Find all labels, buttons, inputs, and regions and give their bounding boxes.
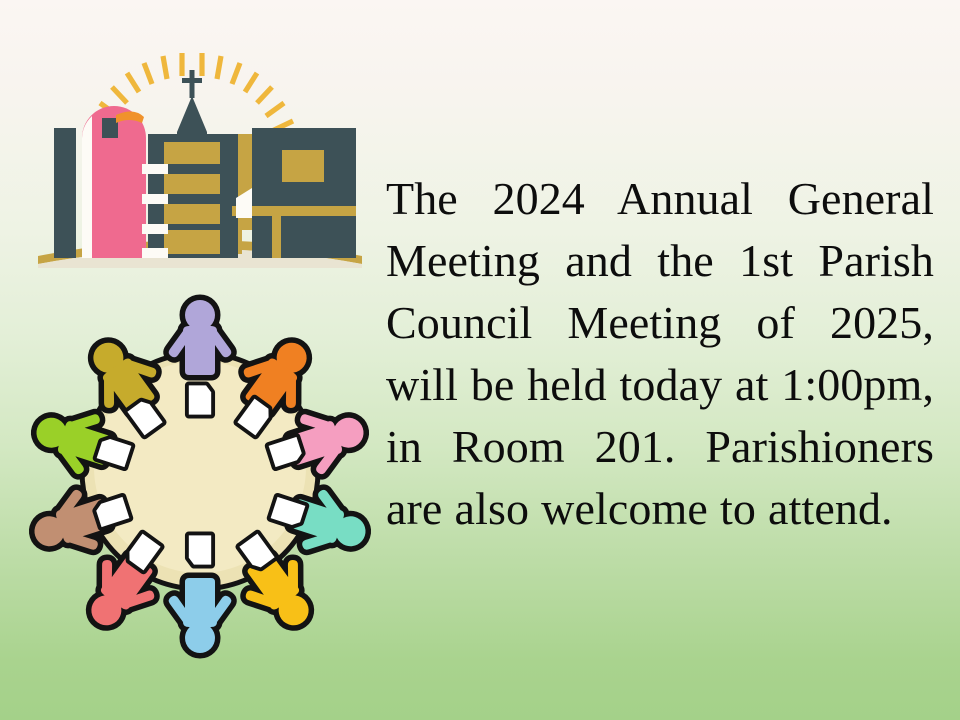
paper-top (189, 385, 211, 414)
announcement-text: The 2024 Annual General Meeting and the … (386, 168, 934, 540)
pink-tower-highlight (82, 116, 92, 258)
slate-divider (220, 134, 238, 258)
left-wall (54, 128, 76, 258)
church-svg (30, 28, 370, 268)
paper-left-upper (97, 437, 132, 467)
paper-right-lower (271, 497, 306, 527)
right-vertical-post (272, 206, 281, 258)
right-slate-block (252, 128, 356, 258)
tower-window (102, 118, 118, 138)
people-circle-svg (18, 282, 382, 660)
people-around-table-illustration (18, 282, 382, 660)
paper-right-upper (269, 437, 304, 467)
paper-left-lower (95, 497, 130, 527)
cross-icon (182, 70, 202, 98)
paper-bottom (189, 535, 211, 564)
church-building-illustration (30, 28, 370, 268)
right-window (282, 150, 324, 182)
presentation-slide: The 2024 Annual General Meeting and the … (0, 0, 960, 720)
